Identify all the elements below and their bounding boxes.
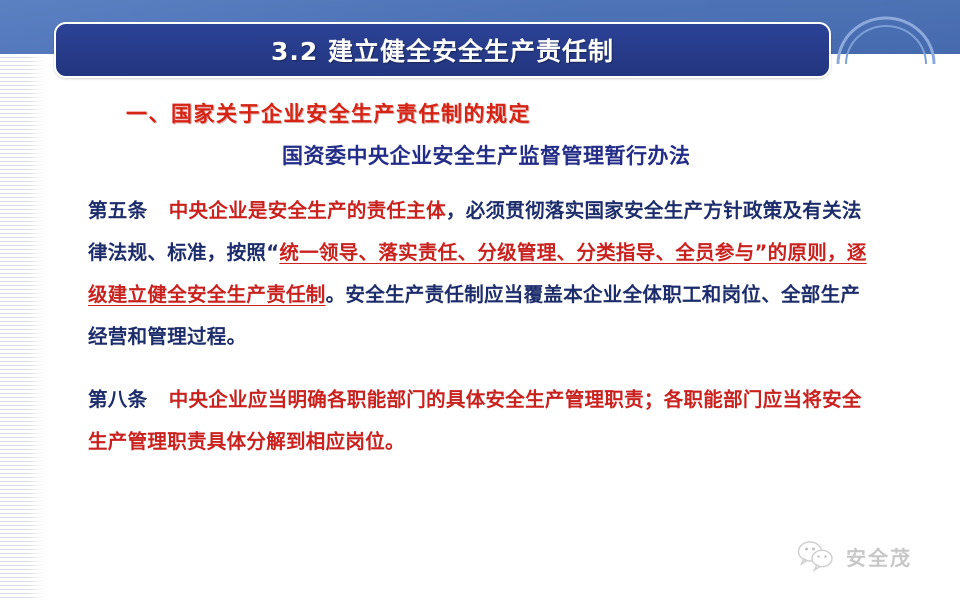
run-red-2: 中央企业应当明确各职能部门的具体安全生产管理职责；各职能部门应当将安全生产管理职… xyxy=(88,388,862,453)
page-title: 3.2 建立健全安全生产责任制 xyxy=(271,32,614,68)
spacer xyxy=(155,388,169,411)
document-subtitle: 国资委中央企业安全生产监督管理暂行办法 xyxy=(282,140,691,170)
watermark: 安全茂 xyxy=(796,539,912,573)
slide-title-bar: 3.2 建立健全安全生产责任制 xyxy=(54,22,831,78)
wechat-icon xyxy=(796,539,836,573)
watermark-label: 安全茂 xyxy=(846,542,912,571)
slide-content: 一、国家关于企业安全生产责任制的规定 国资委中央企业安全生产监督管理暂行办法 第… xyxy=(0,86,960,601)
article-label-8: 第八条 xyxy=(88,388,147,411)
paragraph-article-8: 第八条 中央企业应当明确各职能部门的具体安全生产管理职责；各职能部门应当将安全生… xyxy=(88,379,878,463)
run-red-1: 中央企业是安全生产的责任主体 xyxy=(169,199,446,222)
article-label-5: 第五条 xyxy=(88,199,147,222)
section-heading: 一、国家关于企业安全生产责任制的规定 xyxy=(126,98,531,128)
paragraph-article-5: 第五条 中央企业是安全生产的责任主体，必须贯彻落实国家安全生产方针政策及有关法律… xyxy=(88,190,878,358)
slide-canvas: 3.2 建立健全安全生产责任制 一、国家关于企业安全生产责任制的规定 国资委中央… xyxy=(0,0,960,601)
spacer xyxy=(155,199,169,222)
run-quote-open: “ xyxy=(266,241,279,264)
